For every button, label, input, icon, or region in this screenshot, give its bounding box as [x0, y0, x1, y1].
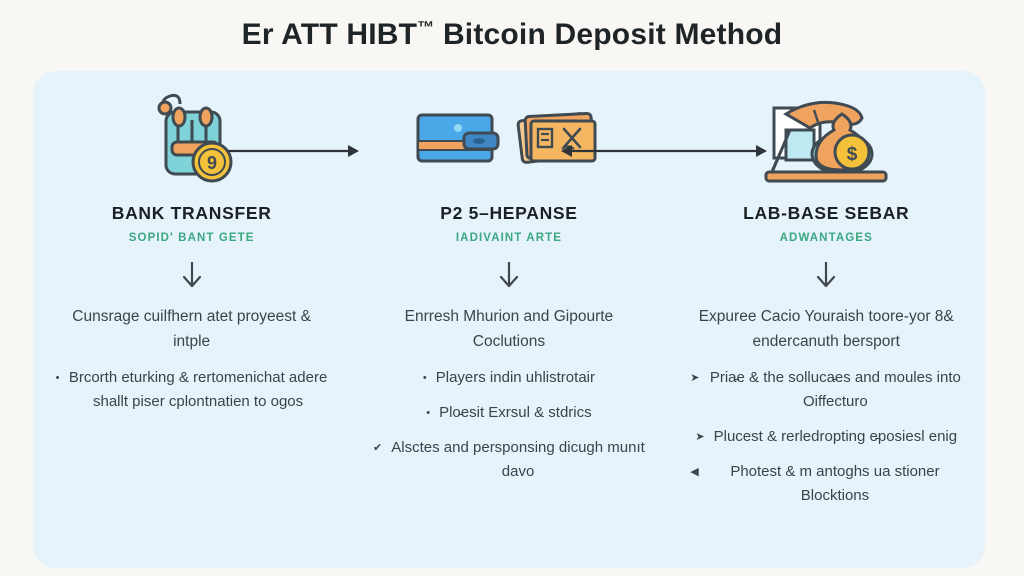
column-bank-transfer: 9 BANK TRANSFER SOPID' BANT GETE Cunsrag…	[33, 71, 350, 414]
icon-zone-bank-transfer: 9	[144, 87, 240, 193]
bullet-text: Brcorth eturking & rertomenichat adere s…	[69, 366, 328, 414]
page-title-lead: Er ATT HIBT	[242, 18, 418, 51]
lede-bank-transfer: Cunsrage cuilfhern atet proyeest & intpl…	[58, 304, 326, 354]
list-item: ✔ Alsctes and persponsing dicugh munıt d…	[373, 436, 645, 484]
trademark-symbol: ™	[417, 18, 434, 37]
subheading-bank-transfer: SOPID' BANT GETE	[129, 232, 255, 244]
heading-bank-transfer: BANK TRANSFER	[112, 203, 272, 224]
down-arrow-p2p-hepanse	[496, 260, 522, 290]
bullet-marker: ➤	[690, 375, 699, 381]
bullet-text: Plo̵esit Exrsul & stdrics	[439, 401, 592, 425]
bullet-text: Photest & m antoghs ua stioner Blocktion…	[708, 460, 963, 508]
list-item: • Players indin uhlistrotair	[423, 366, 595, 390]
method-columns: 9 BANK TRANSFER SOPID' BANT GETE Cunsrag…	[33, 71, 985, 568]
down-arrow-lab-base-sebar	[813, 260, 839, 290]
svg-text:$: $	[847, 144, 858, 165]
page-title: Er ATT HIBT™ Bitcoin Deposit Method	[0, 8, 1024, 55]
bullets-bank-transfer: • Brcorth eturking & rertomenichat adere…	[47, 366, 336, 414]
bullet-text: Players indin uhlistrotair	[436, 366, 595, 390]
list-item: ◀ Photest & m antoghs ua stioner Blockti…	[690, 460, 962, 508]
bank-to-p2p-arrow	[228, 143, 360, 159]
bullet-marker: •	[56, 375, 60, 381]
icon-zone-lab-base-sebar: $	[756, 87, 896, 193]
list-item: ➤ Plucest & rerledropting e̵posiesl enig	[695, 425, 957, 449]
subheading-lab-base-sebar: ADWANTAGES	[780, 232, 873, 244]
bullets-p2p-hepanse: • Players indin uhlistrotair • Plo̵esit …	[364, 366, 653, 484]
list-item: • Brcorth eturking & rertomenichat adere…	[56, 366, 328, 414]
subheading-p2p-hepanse: IADIVAINT ARTE	[456, 232, 562, 244]
list-item: ➤ Pria̵e & the solluca̵es and moules int…	[690, 366, 962, 414]
svg-text:9: 9	[207, 153, 217, 173]
bullet-text: Plucest & rerledropting e̵posiesl enig	[714, 425, 957, 449]
bullet-marker: ✔	[373, 445, 382, 451]
blue-wallet-card-icon	[412, 103, 504, 178]
bullets-lab-base-sebar: ➤ Pria̵e & the solluca̵es and moules int…	[682, 366, 971, 508]
hand-money-bag-icon: $	[756, 88, 896, 193]
page-title-rest: Bitcoin Deposit Method	[443, 18, 782, 51]
bullet-marker: ◀	[690, 469, 698, 475]
heading-lab-base-sebar: LAB-BASE SEBAR	[743, 203, 909, 224]
orange-cards-stack-icon	[514, 101, 606, 180]
bullet-marker: •	[426, 410, 430, 416]
column-p2p-hepanse: P2 5–HEPANSE IADIVAINT ARTE Enrresh Mhur…	[350, 71, 667, 484]
bullet-marker: ➤	[695, 434, 704, 440]
bullet-marker: •	[423, 375, 427, 381]
bank-building-coin-icon: 9	[144, 90, 240, 191]
column-lab-base-sebar: $ LAB-BASE SEBAR ADWANTAGES Expuree Caci…	[668, 71, 985, 508]
bullet-text: Pria̵e & the solluca̵es and moules into …	[708, 366, 962, 414]
bullet-text: Alsctes and persponsing dicugh munıt dav…	[391, 436, 645, 484]
lede-p2p-hepanse: Enrresh Mhurion and Gipourte Coclutions	[375, 304, 643, 354]
down-arrow-bank-transfer	[179, 260, 205, 290]
list-item: • Plo̵esit Exrsul & stdrics	[426, 401, 591, 425]
icon-zone-p2p-hepanse	[412, 87, 606, 193]
heading-p2p-hepanse: P2 5–HEPANSE	[440, 203, 577, 224]
p2p-to-lab-arrow	[560, 143, 768, 159]
lede-lab-base-sebar: Expuree Cacio Youraish toore‐yor 8& ende…	[692, 304, 960, 354]
